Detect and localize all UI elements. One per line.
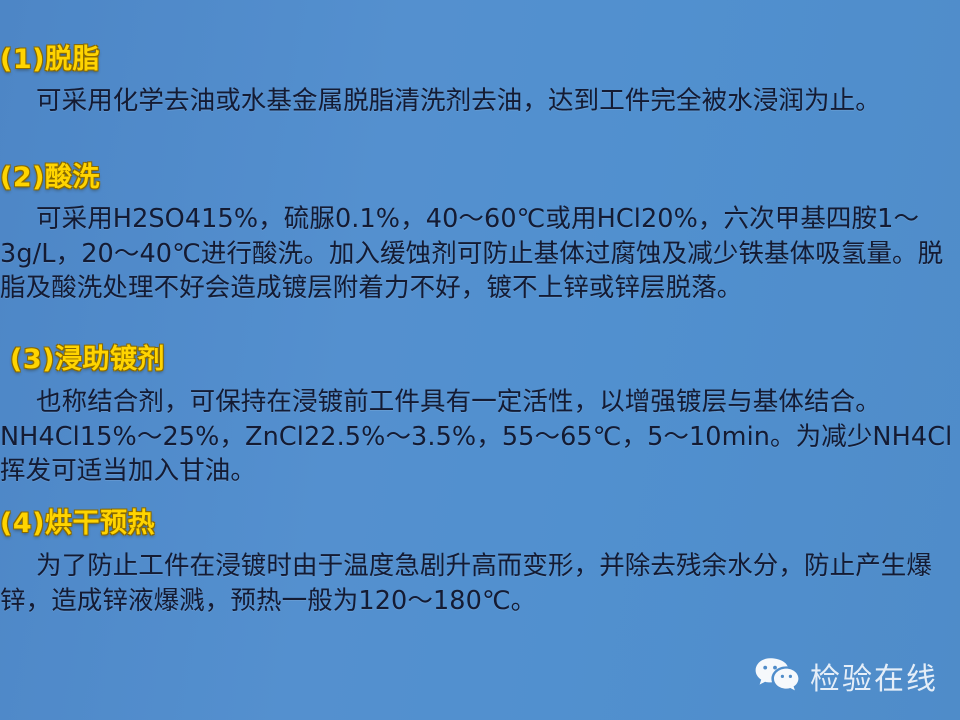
section-heading-fluxing: (3)浸助镀剂 [0,344,960,376]
section-body-fluxing: 也称结合剂，可保持在浸镀前工件具有一定活性，以增强镀层与基体结合。NH4Cl15… [0,385,960,489]
wechat-icon [754,656,800,696]
section-body-degreasing: 可采用化学去油或水基金属脱脂清洗剂去油，达到工件完全被水浸润为止。 [0,84,960,119]
watermark-label: 检验在线 [810,654,938,698]
watermark: 检验在线 [754,654,938,698]
section-heading-pickling: (2)酸洗 [0,162,960,194]
section-body-drying-preheating: 为了防止工件在浸镀时由于温度急剧升高而变形，并除去残余水分，防止产生爆锌，造成锌… [0,549,960,618]
section-body-pickling: 可采用H2SO415%，硫脲0.1%，40～60℃或用HCl20%，六次甲基四胺… [0,202,960,306]
section-heading-degreasing: (1)脱脂 [0,44,960,76]
slide-canvas: (1)脱脂 可采用化学去油或水基金属脱脂清洗剂去油，达到工件完全被水浸润为止。 … [0,0,960,720]
section-fluxing: (3)浸助镀剂 也称结合剂，可保持在浸镀前工件具有一定活性，以增强镀层与基体结合… [0,344,960,489]
section-degreasing: (1)脱脂 可采用化学去油或水基金属脱脂清洗剂去油，达到工件完全被水浸润为止。 [0,44,960,119]
section-heading-drying-preheating: (4)烘干预热 [0,508,960,540]
section-pickling: (2)酸洗 可采用H2SO415%，硫脲0.1%，40～60℃或用HCl20%，… [0,162,960,306]
section-drying-preheating: (4)烘干预热 为了防止工件在浸镀时由于温度急剧升高而变形，并除去残余水分，防止… [0,508,960,618]
